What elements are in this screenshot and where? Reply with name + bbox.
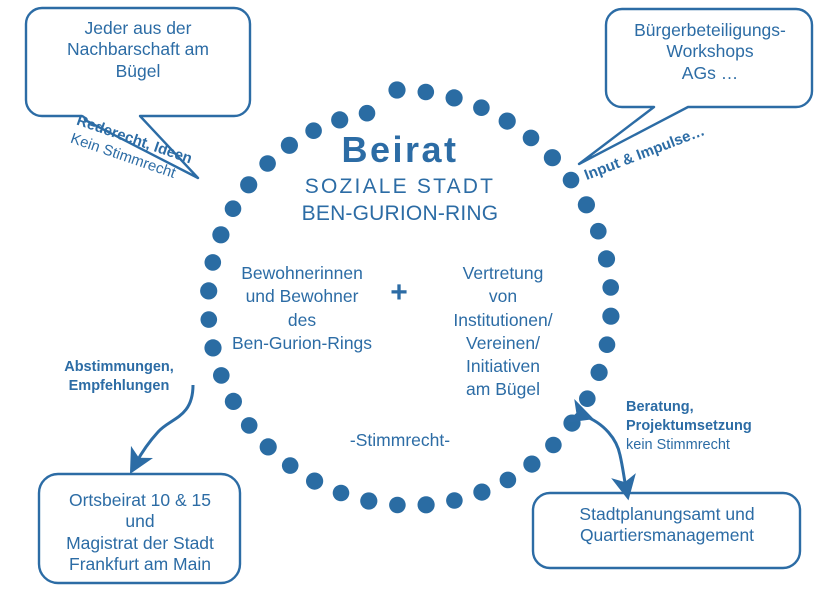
- connector-label-bottom-right-line1: Beratung,: [626, 398, 804, 417]
- members-institutions: Vertretung von Institutionen/ Vereinen/ …: [420, 262, 586, 402]
- voting-rights-note: -Stimmrecht-: [300, 430, 500, 451]
- plus-icon: +: [386, 278, 412, 308]
- bubble-top-right-text: Bürgerbeteiligungs- Workshops AGs …: [612, 20, 808, 84]
- curved-double-arrow-icon: [582, 415, 626, 488]
- curved-arrow-down-left-icon: [136, 385, 193, 463]
- connector-label-bottom-left: Abstimmungen, Empfehlungen: [44, 358, 194, 396]
- diagram-canvas: Jeder aus der Nachbarschaft am Bügel Red…: [0, 0, 820, 600]
- members-residents: Bewohnerinnen und Bewohner des Ben-Gurio…: [214, 262, 390, 355]
- connector-label-bottom-right: Beratung, Projektumsetzung kein Stimmrec…: [626, 398, 804, 455]
- page-subtitle-2: BEN-GURION-RING: [250, 201, 550, 227]
- connector-label-bottom-right-line2: Projektumsetzung: [626, 417, 804, 436]
- box-bottom-left-text: Ortsbeirat 10 & 15 und Magistrat der Sta…: [42, 490, 238, 575]
- bubble-top-left-text: Jeder aus der Nachbarschaft am Bügel: [40, 18, 236, 82]
- page-title: Beirat: [250, 128, 550, 172]
- connector-label-bottom-right-line3: kein Stimmrecht: [626, 436, 804, 455]
- box-bottom-right-text: Stadtplanungsamt und Quartiersmanagement: [538, 504, 796, 547]
- page-subtitle-1: SOZIALE STADT: [250, 174, 550, 200]
